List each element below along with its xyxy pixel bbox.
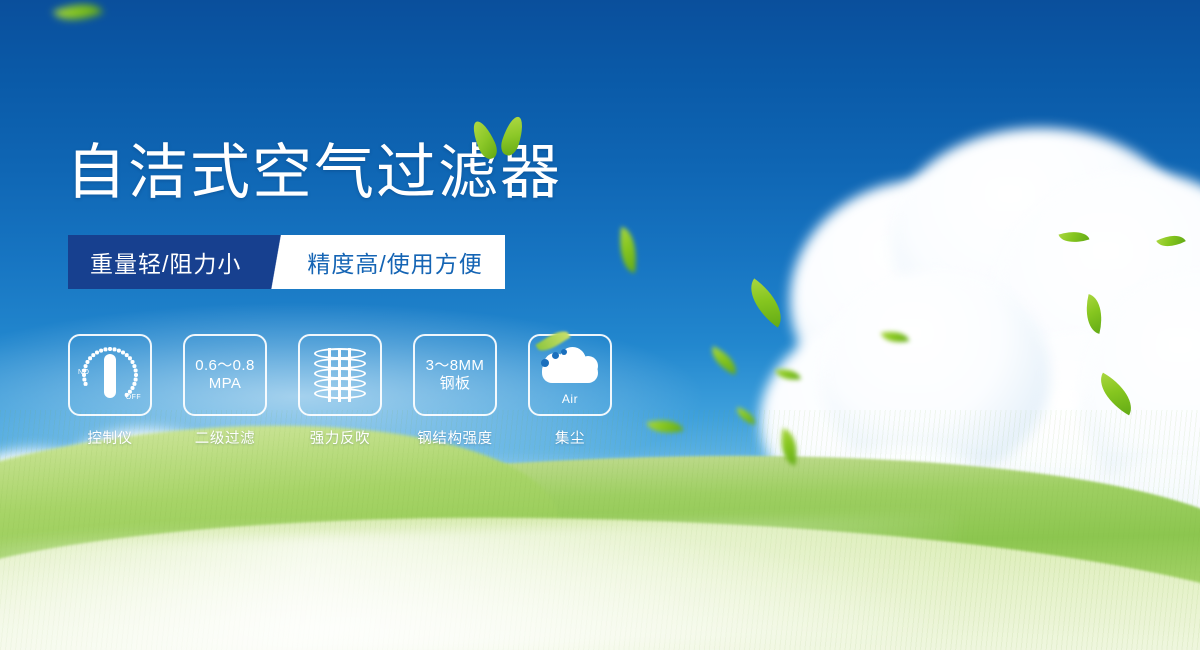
feature-item-pressure[interactable]: 0.6～0.8 MPA 二级过滤 — [183, 334, 267, 448]
dial-tick — [84, 382, 87, 385]
dial-tick — [95, 351, 98, 354]
subtitle-right: 精度高/使用方便 — [293, 235, 504, 289]
dial-tick — [134, 369, 137, 372]
steel-plate-icon: 3～8MM 钢板 — [426, 357, 485, 394]
control-dial-icon: NO OFF — [78, 344, 142, 406]
feature-icon-box — [298, 334, 382, 416]
subtitle-divider — [267, 235, 293, 289]
feature-item-blowback[interactable]: 强力反吹 — [298, 334, 382, 448]
subtitle-left: 重量轻/阻力小 — [68, 235, 267, 289]
hero-banner: 自洁式空气过滤器 重量轻/阻力小 精度高/使用方便 NO OFF 控制仪 0.6… — [0, 0, 1200, 650]
dial-tick — [83, 378, 86, 381]
dial-tick — [86, 360, 89, 363]
feature-item-control[interactable]: NO OFF 控制仪 — [68, 334, 152, 448]
dial-tick — [99, 349, 102, 352]
feature-item-steel[interactable]: 3～8MM 钢板 钢结构强度 — [413, 334, 497, 448]
dial-tick — [82, 373, 85, 376]
sprout-leaves-icon — [474, 112, 534, 162]
dial-tick — [88, 357, 91, 360]
feature-icon-box: Air — [528, 334, 612, 416]
dial-tick — [108, 347, 111, 350]
dial-tick — [133, 364, 136, 367]
grass-sheen — [0, 500, 1020, 650]
dial-tick — [84, 364, 87, 367]
dial-off-label: OFF — [126, 394, 141, 401]
dial-tick — [92, 353, 95, 356]
feature-label: 二级过滤 — [195, 427, 255, 448]
dial-tick — [131, 386, 134, 389]
dial-tick — [113, 348, 116, 351]
feature-icon-box: 3～8MM 钢板 — [413, 334, 497, 416]
feature-label: 控制仪 — [87, 427, 132, 448]
dial-tick — [131, 360, 134, 363]
feature-label: 集尘 — [555, 427, 585, 448]
pressure-value-icon: 0.6～0.8 MPA — [195, 357, 255, 394]
feature-item-dust[interactable]: Air 集尘 — [528, 334, 612, 448]
dial-tick — [117, 349, 120, 352]
air-label: Air — [538, 392, 602, 406]
feature-icon-box: 0.6～0.8 MPA — [183, 334, 267, 416]
feature-label: 钢结构强度 — [417, 427, 493, 448]
feature-label: 强力反吹 — [310, 427, 370, 448]
filter-stack-icon — [314, 346, 366, 404]
dial-tick — [133, 382, 136, 385]
feature-list: NO OFF 控制仪 0.6～0.8 MPA 二级过滤 — [68, 334, 612, 448]
subtitle-bar: 重量轻/阻力小 精度高/使用方便 — [68, 235, 505, 289]
air-cloud-icon: Air — [538, 347, 602, 403]
dial-tick — [134, 378, 137, 381]
feature-icon-box: NO OFF — [68, 334, 152, 416]
dial-tick — [104, 348, 107, 351]
dial-tick — [128, 390, 131, 393]
dial-tick — [134, 373, 137, 376]
